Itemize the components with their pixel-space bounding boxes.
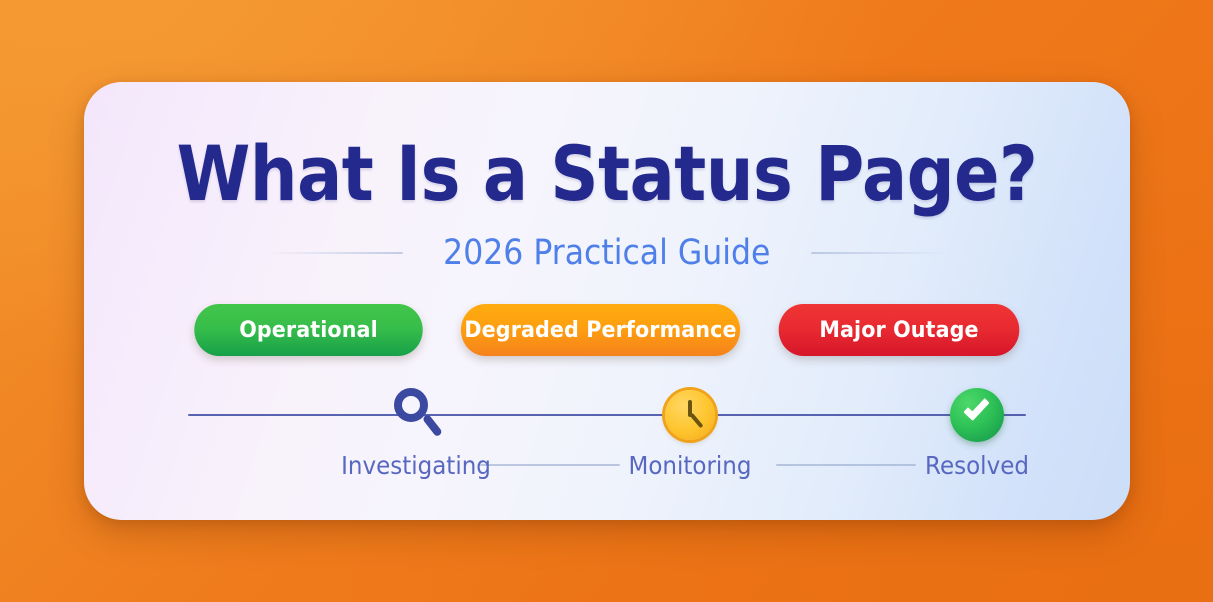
subtitle-rule-right <box>811 252 943 254</box>
subtitle-row: 2026 Practical Guide <box>84 230 1130 276</box>
status-badge-major-outage-label: Major Outage <box>819 318 978 343</box>
status-badge-operational-label: Operational <box>239 318 378 343</box>
magnifier-icon-handle <box>422 414 443 438</box>
status-badge-group: Operational Degraded Performance Major O… <box>84 304 1130 356</box>
clock-icon-minute-hand <box>689 413 703 429</box>
timeline-step-resolved-label: Resolved <box>885 451 1069 480</box>
check-circle-icon-wrap <box>877 382 1077 448</box>
magnifier-icon <box>390 386 442 444</box>
incident-timeline: Investigating Monitoring <box>188 382 1026 492</box>
clock-icon-wrap <box>590 382 790 448</box>
timeline-step-investigating[interactable]: Investigating <box>316 382 516 480</box>
magnifier-icon-wrap <box>316 382 516 448</box>
status-badge-operational[interactable]: Operational <box>194 304 422 356</box>
timeline-step-monitoring-label: Monitoring <box>598 451 782 480</box>
status-badge-major-outage[interactable]: Major Outage <box>779 304 1020 356</box>
status-badge-degraded-performance[interactable]: Degraded Performance <box>461 304 740 356</box>
subtitle-rule-left <box>271 252 403 254</box>
timeline-step-resolved[interactable]: Resolved <box>877 382 1077 480</box>
timeline-steps: Investigating Monitoring <box>188 382 1026 492</box>
poster-background: What Is a Status Page? 2026 Practical Gu… <box>0 0 1213 602</box>
status-badge-degraded-performance-label: Degraded Performance <box>464 318 736 343</box>
page-subtitle: 2026 Practical Guide <box>443 233 770 273</box>
page-title: What Is a Status Page? <box>147 136 1067 212</box>
status-page-card: What Is a Status Page? 2026 Practical Gu… <box>84 82 1130 520</box>
clock-icon <box>665 390 715 440</box>
timeline-step-monitoring[interactable]: Monitoring <box>590 382 790 480</box>
check-circle-icon-tick <box>963 394 990 421</box>
timeline-step-investigating-label: Investigating <box>324 451 508 480</box>
check-circle-icon <box>950 388 1004 442</box>
